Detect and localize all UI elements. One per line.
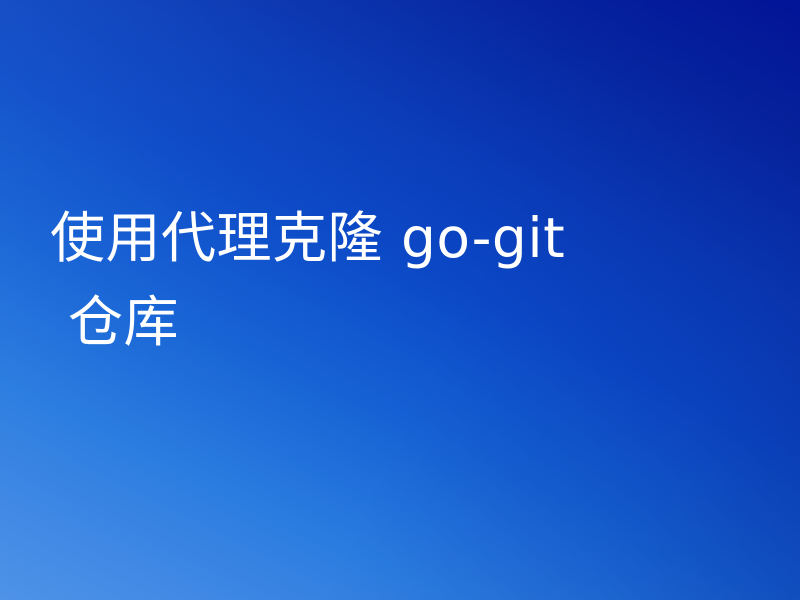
slide-title: 使用代理克隆 go-git 仓库	[50, 196, 750, 364]
title-block: 使用代理克隆 go-git 仓库	[50, 196, 750, 364]
presentation-slide: 使用代理克隆 go-git 仓库	[0, 0, 800, 600]
